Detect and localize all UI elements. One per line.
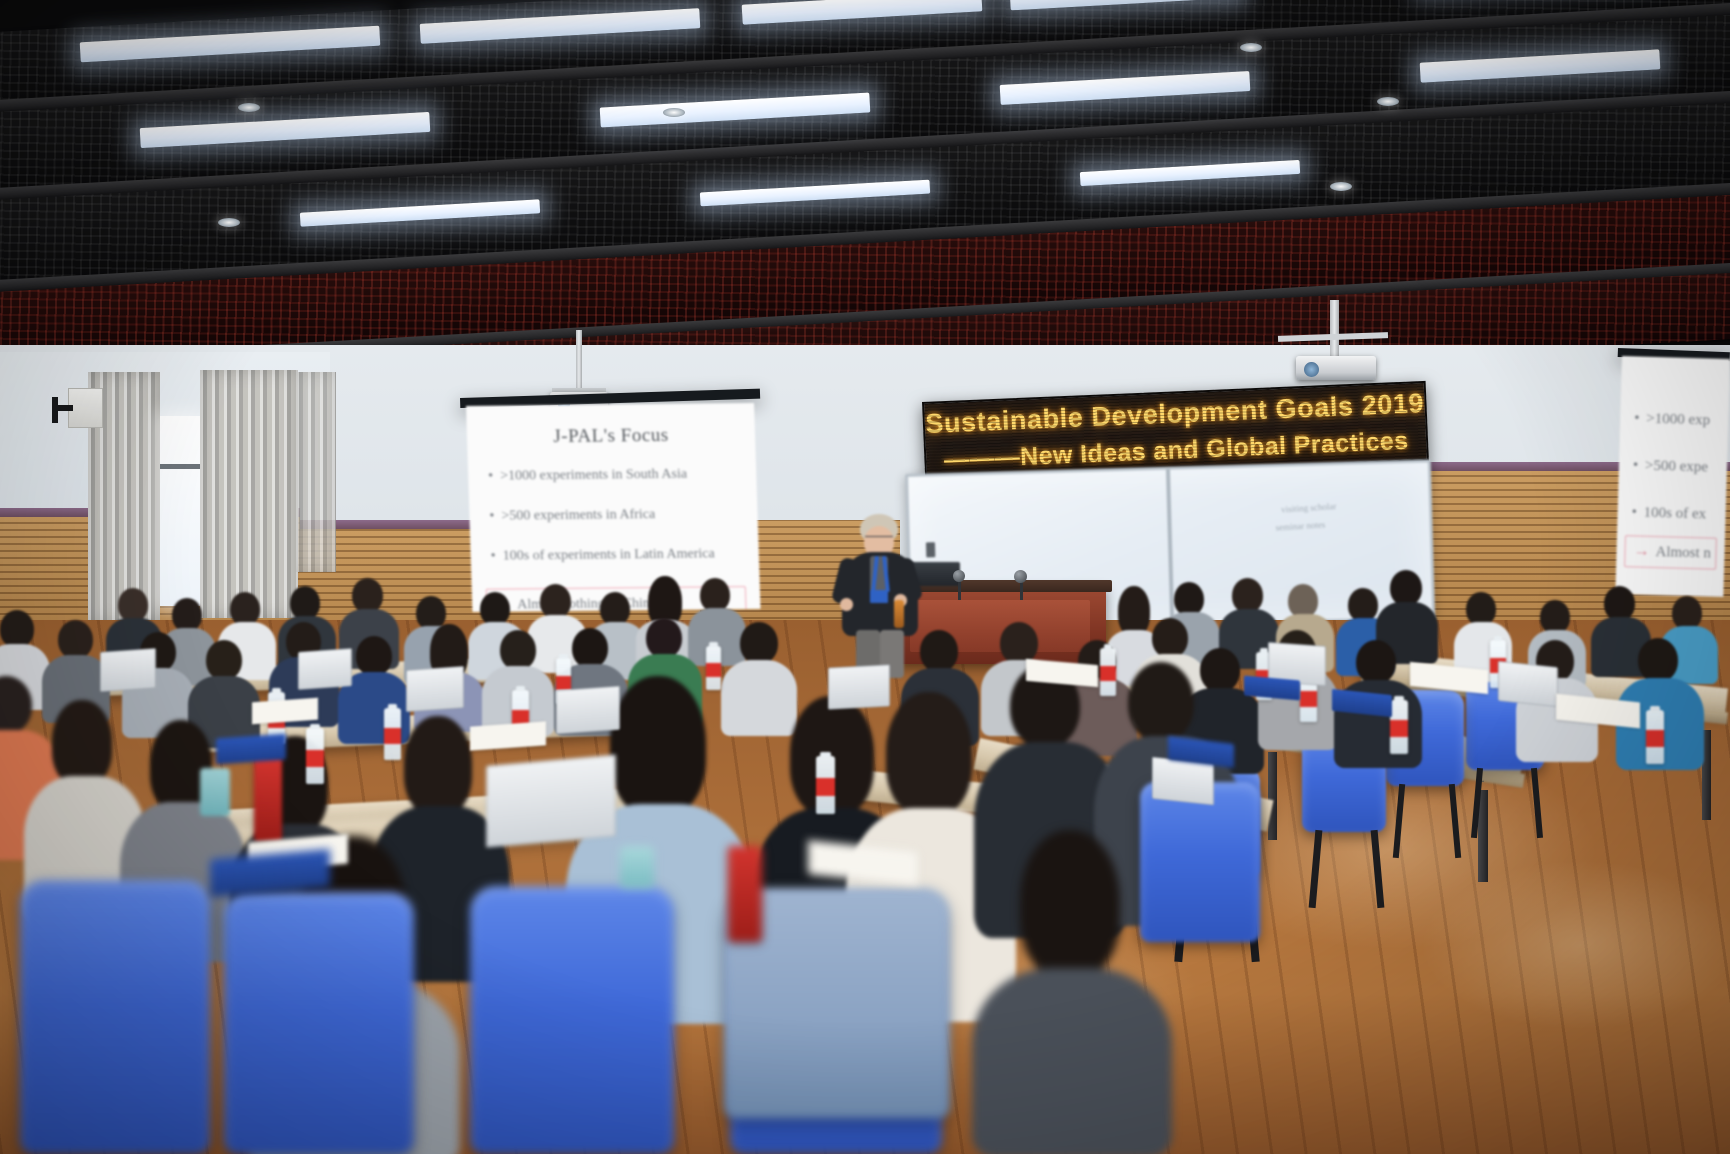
- glasses-icon: [865, 536, 893, 541]
- laptop: [1498, 661, 1558, 707]
- slide-bullet: •>500 experiments in Africa: [489, 506, 744, 525]
- water-bottle: [384, 708, 401, 760]
- laptop: [486, 754, 616, 847]
- window-curtain: [296, 372, 336, 572]
- slide-bullet: •>1000 experiments in South Asia: [488, 466, 743, 485]
- microphone-head: [953, 570, 965, 582]
- whiteboard-note: visiting scholar: [1281, 500, 1337, 516]
- slide-callout: →Almost n: [1624, 535, 1717, 570]
- wall-speaker: [68, 388, 103, 428]
- window: [160, 416, 202, 606]
- table-leg: [1268, 752, 1277, 840]
- bullet-marker: •: [489, 509, 502, 525]
- laptop: [298, 648, 352, 690]
- projection-screen-right: •>1000 exp •>500 expe •100s of ex →Almos…: [1615, 356, 1730, 597]
- bullet-marker: •: [1631, 504, 1643, 521]
- water-bottle: [706, 646, 721, 690]
- recessed-downlight: [218, 218, 240, 227]
- teal-cup: [620, 846, 654, 888]
- laptop: [100, 648, 156, 692]
- laptop: [406, 666, 464, 712]
- blue-folder: [216, 734, 286, 765]
- microphone-head: [1014, 570, 1027, 583]
- water-bottle: [306, 728, 324, 784]
- recessed-downlight: [663, 108, 685, 117]
- chair: [470, 886, 674, 1154]
- handheld-microphone: [894, 600, 904, 628]
- recessed-downlight: [238, 103, 260, 112]
- chair: [20, 880, 210, 1154]
- arrow-icon: →: [1633, 542, 1649, 559]
- chair: [224, 892, 414, 1154]
- slide-right: •>1000 exp •>500 expe •100s of ex →Almos…: [1615, 356, 1730, 597]
- water-bottle: [1646, 710, 1664, 764]
- bullet-marker: •: [1633, 457, 1645, 474]
- recessed-downlight: [1330, 182, 1352, 191]
- window-curtain: [200, 370, 298, 618]
- teal-cup: [200, 768, 230, 816]
- laptop: [556, 686, 620, 734]
- recessed-downlight: [1377, 97, 1399, 106]
- water-bottle: [1100, 648, 1116, 696]
- water-bottle: [816, 756, 835, 814]
- microphone-stand: [1020, 580, 1023, 600]
- slide-bullet: •100s of ex: [1631, 504, 1717, 523]
- slide-title: J-PAL's Focus: [481, 424, 742, 449]
- speaker-badge: [870, 590, 888, 603]
- laptop: [828, 664, 890, 709]
- speaker-hand-left: [840, 598, 853, 611]
- whiteboard-note: seminar notes: [1275, 518, 1325, 534]
- bullet-marker: •: [488, 469, 501, 485]
- recessed-downlight: [1240, 43, 1262, 52]
- water-bottle: [1390, 700, 1408, 754]
- slide-bullet: •>1000 exp: [1634, 410, 1720, 429]
- red-thermos: [254, 756, 282, 842]
- slide-bullet: •100s of experiments in Latin America: [490, 546, 745, 565]
- bullet-marker: •: [1634, 410, 1646, 427]
- red-thermos: [728, 846, 762, 942]
- bullet-marker: •: [490, 549, 503, 565]
- lecture-hall-photo: Sustainable Development Goals 2019 ———Ne…: [0, 0, 1730, 1154]
- slide-bullet: •>500 expe: [1633, 457, 1719, 476]
- chair: [1140, 782, 1260, 942]
- ceiling: [0, 0, 1730, 372]
- paper-sheet: [252, 698, 318, 725]
